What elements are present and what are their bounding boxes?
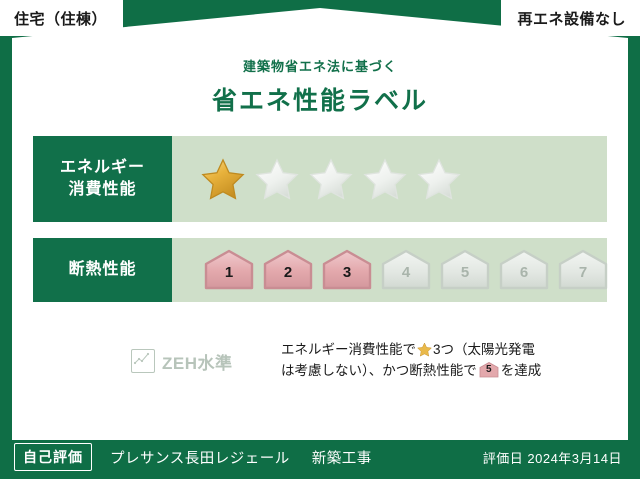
zeh-chart-icon	[131, 349, 155, 373]
grade-house-number: 2	[261, 264, 315, 281]
row-insulation-performance: 断熱性能 1234567	[33, 238, 607, 302]
zeh-note-block: ZEH水準 エネルギー消費性能で3つ（太陽光発電 は考慮しない）、かつ断熱性能で…	[33, 332, 607, 390]
criteria-note-line2-a: は考慮しない）、かつ断熱性能で	[281, 363, 477, 378]
row-energy-key-line1: エネルギー	[60, 157, 145, 179]
zeh-standard-label: ZEH水準	[162, 349, 233, 374]
grade-house-inactive: 5	[438, 248, 492, 292]
grade-house-number: 4	[379, 264, 433, 281]
inline-star-icon	[417, 342, 432, 357]
criteria-note-line2: は考慮しない）、かつ断熱性能で5を達成	[281, 361, 607, 382]
work-type: 新築工事	[312, 447, 372, 468]
insulation-grade-scale: 1234567	[172, 238, 610, 302]
criteria-note-line1-a: エネルギー消費性能で	[281, 342, 416, 357]
star-filled-icon	[200, 157, 246, 201]
energy-performance-label: 住宅（住棟） 再エネ設備なし 建築物省エネ法に基づく 省エネ性能ラベル エネルギ…	[0, 0, 640, 479]
zeh-standard-marker: ZEH水準	[33, 349, 249, 374]
grade-house-number: 7	[556, 264, 610, 281]
star-rating	[172, 136, 607, 222]
grade-house-number: 1	[202, 264, 256, 281]
row-energy-key: エネルギー 消費性能	[33, 136, 172, 222]
grade-house-number: 5	[438, 264, 492, 281]
star-empty-icon	[362, 157, 408, 201]
title-block: 建築物省エネ法に基づく 省エネ性能ラベル	[0, 56, 640, 117]
tag-renewable-energy-label: 再エネ設備なし	[517, 8, 626, 29]
row-energy-key-line2: 消費性能	[68, 179, 136, 201]
evaluation-date: 評価日 2024年3月14日	[483, 448, 622, 467]
criteria-note-line1: エネルギー消費性能で3つ（太陽光発電	[281, 340, 607, 361]
row-insulation-key: 断熱性能	[33, 238, 172, 302]
grade-house-active: 1	[202, 248, 256, 292]
grade-house-active: 3	[320, 248, 374, 292]
grade-house-number: 6	[497, 264, 551, 281]
row-energy-performance: エネルギー 消費性能	[33, 136, 607, 222]
grade-house-inactive: 6	[497, 248, 551, 292]
grade-house-number: 3	[320, 264, 374, 281]
grade-house-inactive: 7	[556, 248, 610, 292]
star-empty-icon	[254, 157, 300, 201]
tag-housing-type-label: 住宅（住棟）	[14, 8, 107, 29]
criteria-note-line1-b: 3つ（太陽光発電	[433, 342, 535, 357]
criteria-note: エネルギー消費性能で3つ（太陽光発電 は考慮しない）、かつ断熱性能で5を達成	[249, 340, 607, 382]
star-empty-icon	[416, 157, 462, 201]
footer-bar: 自己評価 プレサンス長田レジェール 新築工事 評価日 2024年3月14日	[0, 435, 640, 479]
self-evaluation-badge: 自己評価	[14, 443, 92, 471]
row-insulation-key-line1: 断熱性能	[68, 259, 136, 281]
grade-house-inactive: 4	[379, 248, 433, 292]
criteria-note-line2-b: を達成	[501, 363, 542, 378]
tag-housing-type: 住宅（住棟）	[0, 0, 123, 36]
title-subtitle: 建築物省エネ法に基づく	[0, 56, 640, 75]
building-name: プレサンス長田レジェール	[110, 447, 290, 468]
star-empty-icon	[308, 157, 354, 201]
inline-grade-house-icon: 5	[479, 362, 499, 378]
inline-grade-house-number: 5	[479, 365, 499, 375]
page-title: 省エネ性能ラベル	[0, 81, 640, 117]
grade-house-active: 2	[261, 248, 315, 292]
tag-renewable-energy: 再エネ設備なし	[501, 0, 640, 36]
